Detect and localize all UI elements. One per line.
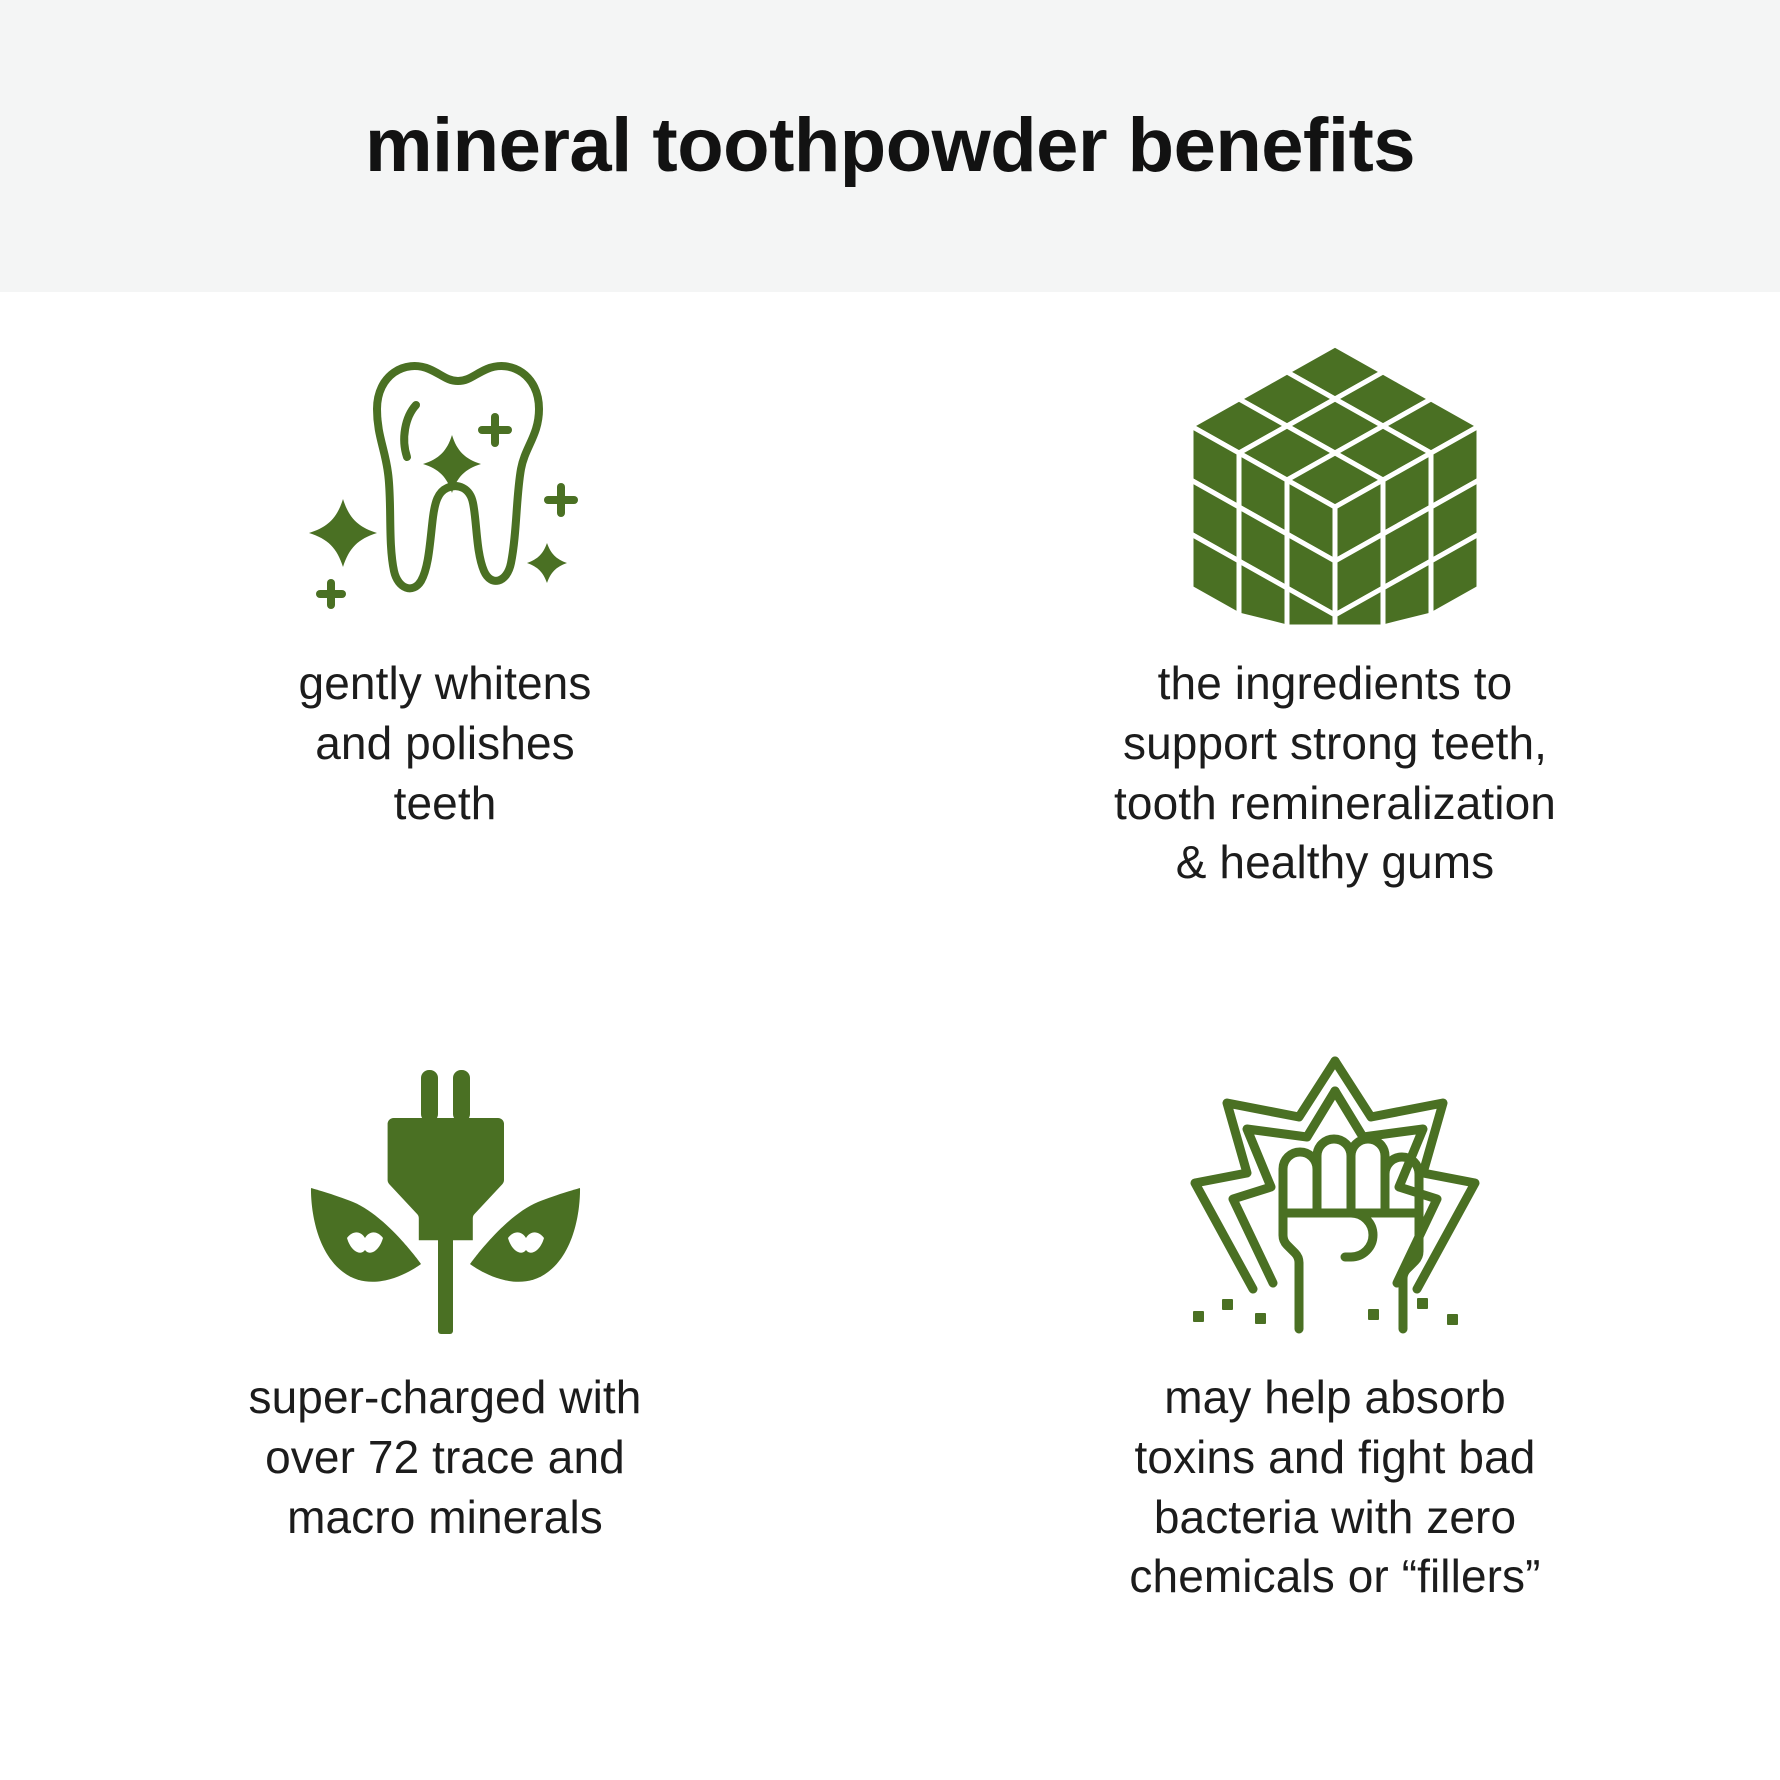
benefit-card-minerals: super-charged with over 72 trace and mac… bbox=[0, 1036, 890, 1780]
benefit-text: gently whitens and polishes teeth bbox=[299, 654, 592, 833]
benefit-card-absorb-toxins: may help absorb toxins and fight bad bac… bbox=[890, 1036, 1780, 1780]
benefit-text: may help absorb toxins and fight bad bac… bbox=[1129, 1368, 1540, 1607]
infographic-page: mineral toothpowder benefits bbox=[0, 0, 1780, 1780]
benefit-text: super-charged with over 72 trace and mac… bbox=[248, 1368, 641, 1547]
benefit-card-whitens: gently whitens and polishes teeth bbox=[0, 292, 890, 1036]
benefit-card-ingredients: the ingredients to support strong teeth,… bbox=[890, 292, 1780, 1036]
benefit-text: the ingredients to support strong teeth,… bbox=[1114, 654, 1556, 893]
plug-leaves-icon bbox=[285, 1046, 605, 1346]
header-band: mineral toothpowder benefits bbox=[0, 0, 1780, 292]
raised-fist-burst-icon bbox=[1175, 1046, 1495, 1346]
mineral-cube-icon bbox=[1175, 332, 1495, 632]
tooth-sparkle-icon bbox=[285, 332, 605, 632]
page-title: mineral toothpowder benefits bbox=[365, 104, 1415, 188]
benefits-grid: gently whitens and polishes teeth bbox=[0, 292, 1780, 1780]
